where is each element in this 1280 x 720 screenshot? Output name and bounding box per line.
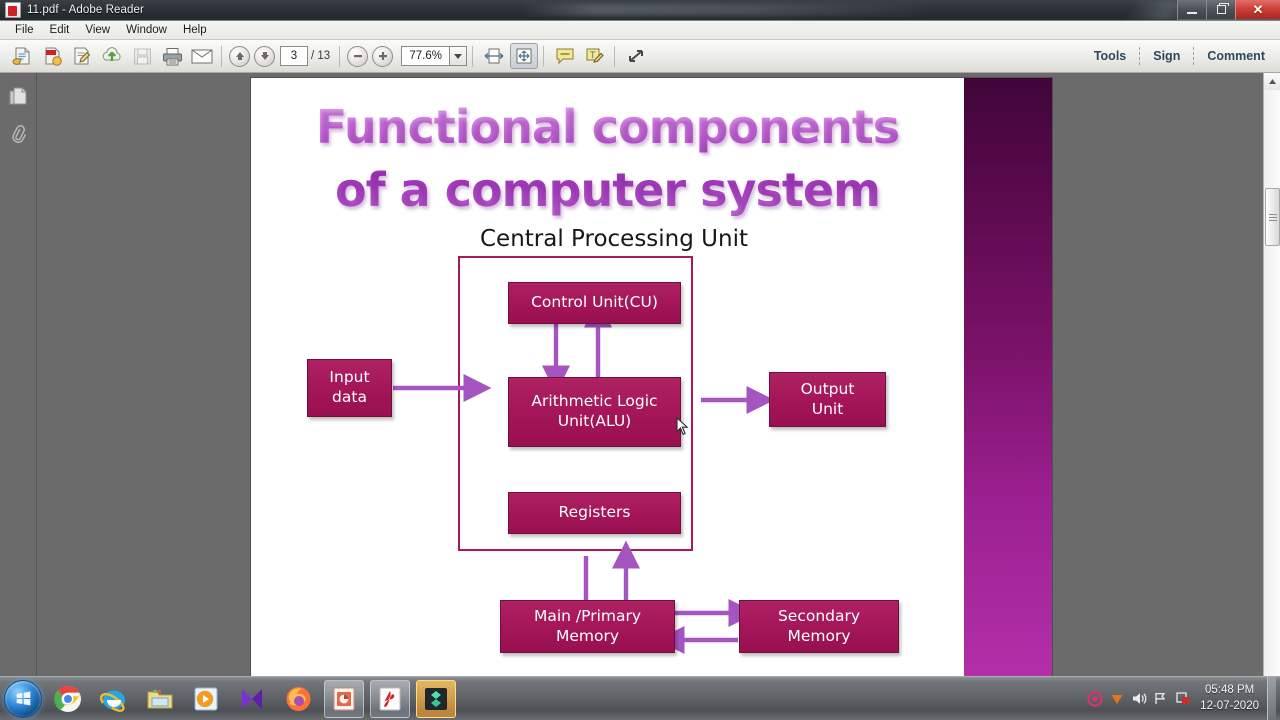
minimize-button[interactable]: [1177, 0, 1206, 20]
window-title: 11.pdf - Adobe Reader: [27, 4, 144, 16]
editor-app-icon[interactable]: [416, 680, 456, 718]
clock-date: 12-07-2020: [1200, 699, 1259, 715]
box-main-memory-label1: Main /Primary: [534, 607, 641, 627]
taskbar-clock[interactable]: 05:48 PM 12-07-2020: [1194, 683, 1267, 714]
volume-icon[interactable]: [1128, 688, 1150, 710]
scrollbar-thumb[interactable]: [1265, 188, 1280, 246]
box-control-unit-label: Control Unit(CU): [531, 293, 658, 313]
edit-pdf-icon[interactable]: [68, 43, 96, 69]
box-secondary-memory-label1: Secondary: [778, 607, 860, 627]
restore-button[interactable]: [1206, 0, 1235, 20]
box-output-unit-label2: Unit: [812, 400, 844, 420]
attachments-icon[interactable]: [3, 119, 33, 149]
close-button[interactable]: ✕: [1235, 0, 1280, 20]
email-icon[interactable]: [188, 43, 216, 69]
previous-page-button[interactable]: [229, 46, 250, 67]
tools-button[interactable]: Tools: [1081, 49, 1139, 63]
box-secondary-memory: Secondary Memory: [739, 600, 899, 653]
vertical-scrollbar[interactable]: [1263, 73, 1280, 676]
expand-icon[interactable]: [622, 43, 650, 69]
toolbar-right-links: Tools Sign Comment: [1081, 47, 1280, 65]
next-page-button[interactable]: [254, 46, 275, 67]
highlight-text-icon[interactable]: T: [581, 43, 609, 69]
fit-width-icon[interactable]: [480, 43, 508, 69]
zoom-in-button[interactable]: [372, 46, 393, 67]
zoom-out-button[interactable]: [347, 46, 368, 67]
sticky-note-icon[interactable]: [551, 43, 579, 69]
clock-time: 05:48 PM: [1200, 683, 1259, 699]
page-thumbnails-icon[interactable]: [3, 81, 33, 111]
box-main-memory: Main /Primary Memory: [500, 600, 675, 653]
movie-maker-icon[interactable]: [232, 680, 272, 718]
main-toolbar: 3 / 13 77.6%: [0, 40, 1280, 73]
menu-item-view[interactable]: View: [77, 23, 118, 37]
upload-cloud-icon[interactable]: [98, 43, 126, 69]
window-title-bar: 11.pdf - Adobe Reader ✕: [0, 0, 1280, 21]
system-tray: 05:48 PM 12-07-2020: [1084, 677, 1280, 720]
record-icon[interactable]: [1084, 688, 1106, 710]
open-file-icon[interactable]: [8, 43, 36, 69]
screen: 11.pdf - Adobe Reader ✕ File Edit View W…: [0, 0, 1280, 720]
page-number-input[interactable]: 3: [280, 46, 308, 66]
taskbar: 05:48 PM 12-07-2020: [0, 676, 1280, 720]
zoom-level-input[interactable]: 77.6%: [401, 46, 449, 66]
box-alu: Arithmetic Logic Unit(ALU): [508, 377, 681, 447]
box-control-unit: Control Unit(CU): [508, 282, 681, 324]
create-pdf-icon[interactable]: [38, 43, 66, 69]
menu-item-edit[interactable]: Edit: [42, 23, 78, 37]
action-center-icon[interactable]: [1172, 688, 1194, 710]
document-view: Functional components of a computer syst…: [37, 73, 1263, 676]
network-icon[interactable]: [1150, 688, 1172, 710]
utorrent-icon[interactable]: [1106, 688, 1128, 710]
menu-bar: File Edit View Window Help: [0, 21, 1280, 40]
pdf-page: Functional components of a computer syst…: [251, 78, 1052, 679]
box-secondary-memory-label2: Memory: [787, 627, 850, 647]
adobe-reader-icon[interactable]: [370, 680, 410, 718]
box-input-data-label1: Input: [329, 368, 369, 388]
print-icon[interactable]: [158, 43, 186, 69]
media-player-icon[interactable]: [186, 680, 226, 718]
show-desktop-button[interactable]: [1267, 677, 1276, 720]
box-input-data-label2: data: [332, 388, 367, 408]
navigation-rail: [0, 73, 37, 676]
powerpoint-icon[interactable]: [324, 680, 364, 718]
menu-item-file[interactable]: File: [7, 23, 42, 37]
menu-item-help[interactable]: Help: [175, 23, 215, 37]
scroll-up-button[interactable]: [1264, 73, 1280, 90]
box-registers: Registers: [508, 492, 681, 534]
mouse-cursor: [676, 417, 689, 436]
menu-item-window[interactable]: Window: [118, 23, 175, 37]
box-registers-label: Registers: [559, 503, 631, 523]
save-icon: [128, 43, 156, 69]
box-alu-label1: Arithmetic Logic: [531, 392, 657, 412]
box-main-memory-label2: Memory: [556, 627, 619, 647]
box-output-unit: Output Unit: [769, 372, 886, 427]
internet-explorer-icon[interactable]: [94, 680, 134, 718]
svg-text:T: T: [590, 50, 596, 60]
file-explorer-icon[interactable]: [140, 680, 180, 718]
zoom-dropdown-button[interactable]: [449, 46, 467, 66]
box-input-data: Input data: [307, 359, 392, 417]
box-alu-label2: Unit(ALU): [558, 412, 631, 432]
window-controls: ✕: [1177, 0, 1280, 21]
chrome-icon[interactable]: [48, 680, 88, 718]
title-bar-blur-artifact: [520, 4, 940, 16]
page-total-label: / 13: [311, 50, 330, 62]
windows-start-icon[interactable]: [4, 680, 42, 718]
chevron-down-icon: [454, 54, 462, 59]
box-output-unit-label1: Output: [801, 380, 855, 400]
sign-button[interactable]: Sign: [1140, 49, 1193, 63]
fit-page-icon[interactable]: [510, 43, 538, 69]
pdf-icon: [5, 2, 21, 18]
comment-button[interactable]: Comment: [1194, 49, 1278, 63]
firefox-icon[interactable]: [278, 680, 318, 718]
